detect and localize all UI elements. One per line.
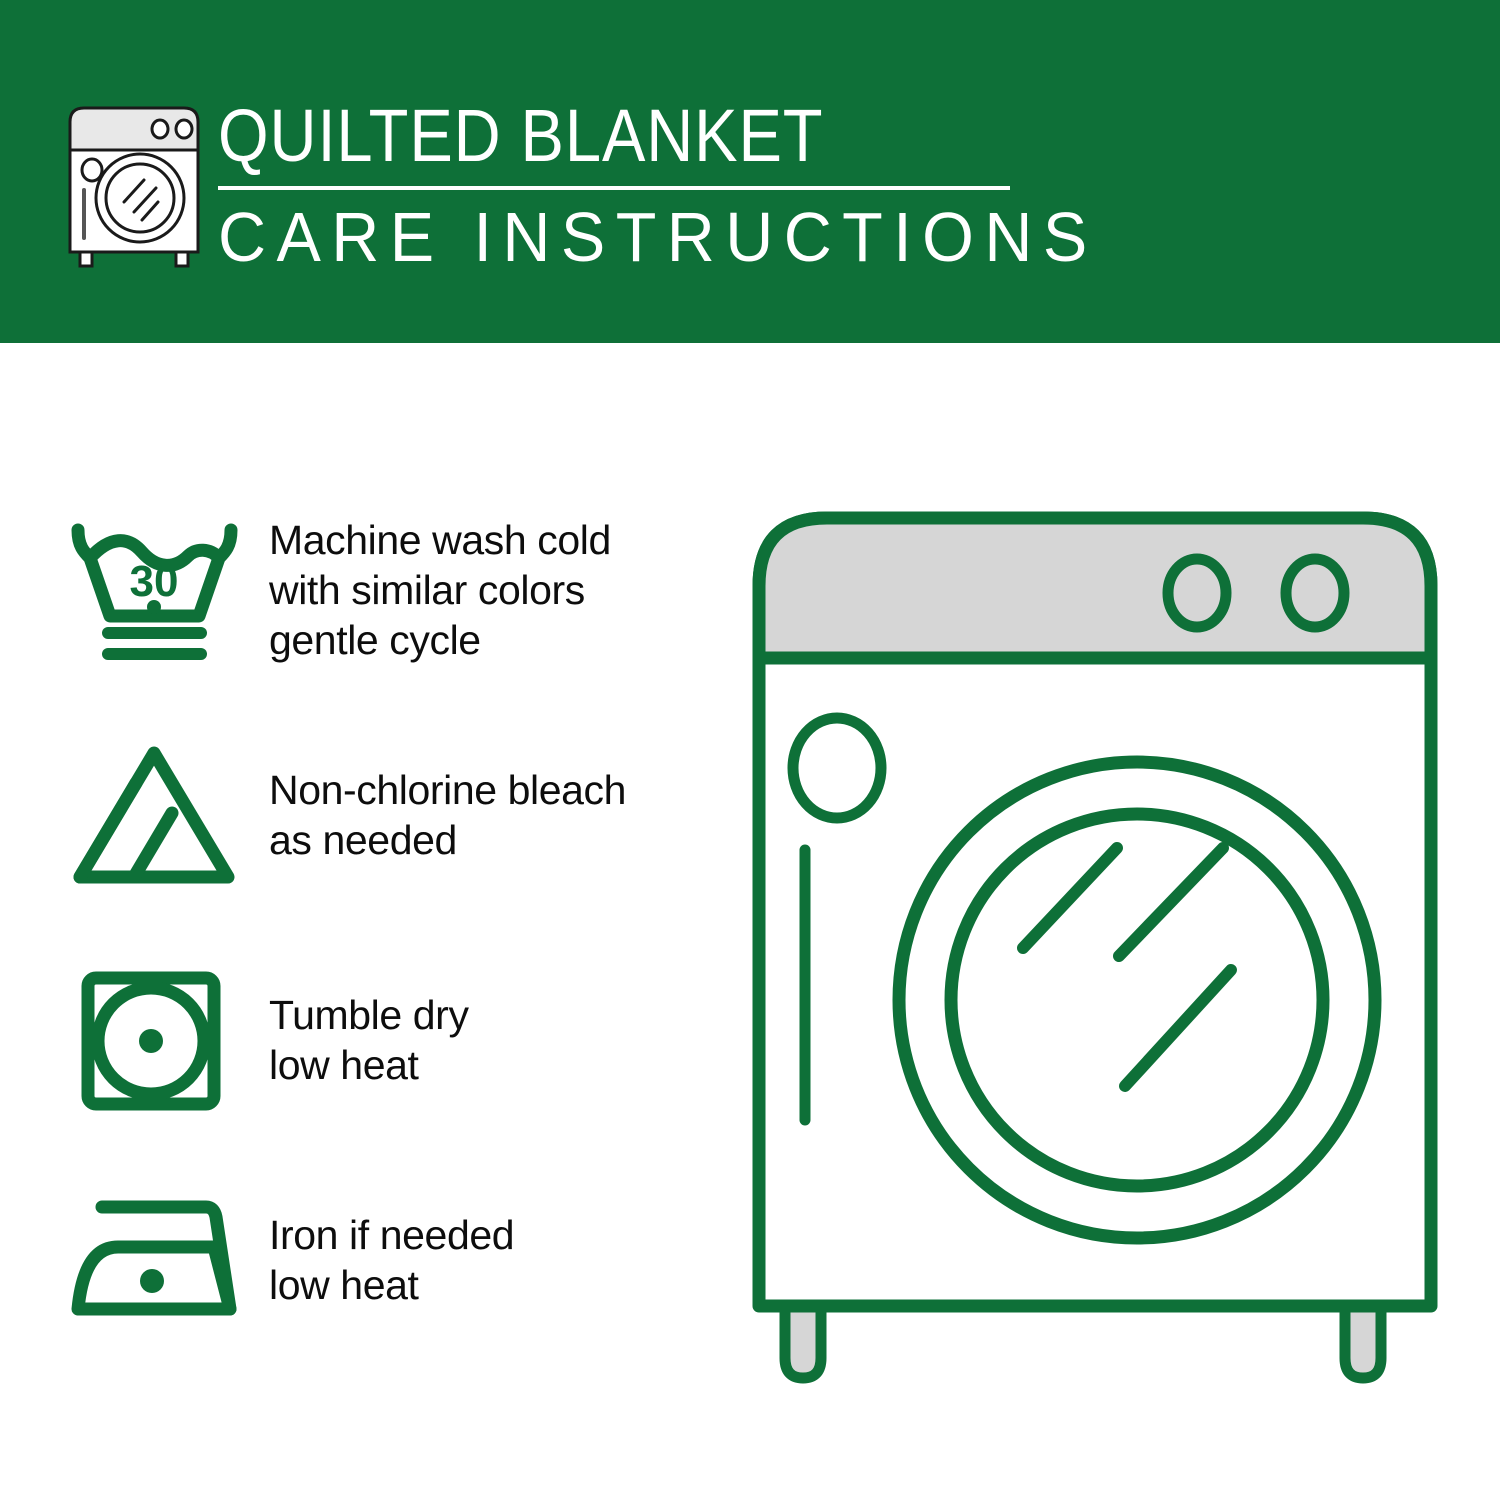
wash-basin-30-icon: 30 (62, 505, 247, 675)
page-title: QUILTED BLANKET (218, 96, 922, 176)
knob-left (1168, 559, 1226, 627)
care-item-label: Tumble dry low heat (269, 990, 469, 1090)
care-item-machine-wash: 30 Machine wash cold with similar colors… (0, 505, 740, 675)
care-text-line: low heat (269, 1040, 469, 1090)
header-title-block: QUILTED BLANKET CARE INSTRUCTIONS (218, 96, 1018, 276)
care-item-label: Iron if needed low heat (269, 1210, 514, 1310)
care-text-line: Machine wash cold (269, 515, 611, 565)
care-text-line: low heat (269, 1260, 514, 1310)
header-banner: QUILTED BLANKET CARE INSTRUCTIONS (0, 0, 1500, 343)
knob-right (1286, 559, 1344, 627)
care-item-label: Non-chlorine bleach as needed (269, 765, 626, 865)
care-text-line: with similar colors (269, 565, 611, 615)
title-divider (218, 186, 1010, 190)
small-dial (793, 718, 881, 818)
wash-temperature-value: 30 (130, 557, 179, 606)
care-instructions-infographic: QUILTED BLANKET CARE INSTRUCTIONS (0, 0, 1500, 1500)
care-item-bleach: Non-chlorine bleach as needed (0, 730, 740, 900)
care-item-tumble-dry: Tumble dry low heat (0, 955, 740, 1125)
care-text-line: gentle cycle (269, 615, 611, 665)
care-text-line: Tumble dry (269, 990, 469, 1040)
page-subtitle: CARE INSTRUCTIONS (218, 198, 978, 276)
washing-machine-icon (62, 98, 212, 268)
care-item-label: Machine wash cold with similar colors ge… (269, 515, 611, 665)
tumble-dry-low-icon (62, 955, 247, 1125)
care-text-line: Non-chlorine bleach (269, 765, 626, 815)
bleach-triangle-icon (62, 730, 247, 900)
iron-low-heat-icon (62, 1175, 247, 1345)
care-item-iron: Iron if needed low heat (0, 1175, 740, 1345)
washing-machine-illustration (745, 500, 1445, 1420)
care-text-line: as needed (269, 815, 626, 865)
care-text-line: Iron if needed (269, 1210, 514, 1260)
